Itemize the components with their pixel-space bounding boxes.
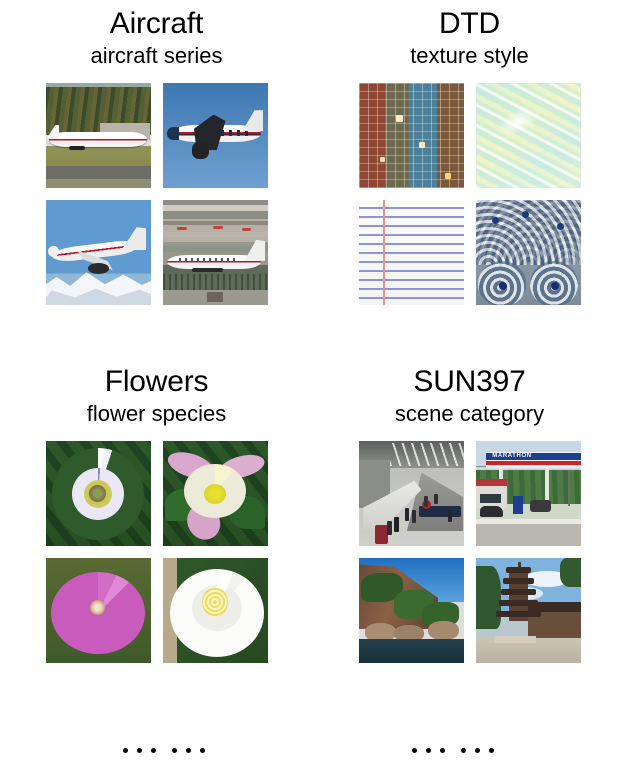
dataset-panel-flowers: Flowers flower species [0,358,313,713]
ellipsis-dot [186,748,191,753]
panel-title: SUN397 [413,364,525,400]
dataset-panel-aircraft: Aircraft aircraft series [0,0,313,355]
ellipsis-dot [412,748,417,753]
dataset-panel-dtd: DTD texture style [313,0,626,355]
sample-image-pastel-streak-texture [476,83,581,188]
continuation-row [0,728,626,778]
ellipsis-dot [200,748,205,753]
ellipsis-dot [172,748,177,753]
sample-image-coastal-cliff [359,558,464,663]
sample-image-columbine-flower [163,441,268,546]
ellipsis-dot [123,748,128,753]
sample-image-grid-woven-texture [359,83,464,188]
sample-image-grid [46,83,268,305]
sample-image-gas-station: MARATHON [476,441,581,546]
ellipsis-left-a [123,748,156,753]
ellipsis-dot [461,748,466,753]
sample-image-white-camellia-flower [163,558,268,663]
sample-image-regional-jet-over-mountains [46,200,151,305]
sample-image-lined-paper-texture [359,200,464,305]
ellipsis-left-b [172,748,205,753]
ellipsis-right-a [412,748,445,753]
panel-subtitle: scene category [395,401,544,427]
panel-subtitle: aircraft series [90,43,222,69]
panel-title: Aircraft [110,6,203,42]
sample-image-pagoda-temple [476,558,581,663]
ellipsis-dot [489,748,494,753]
ellipsis-dot [151,748,156,753]
ellipsis-right-b [461,748,494,753]
sample-image-grid [46,441,268,663]
sample-image-business-jet-in-flight [163,83,268,188]
gas-station-sign-text: MARATHON [492,453,531,459]
panel-subtitle: texture style [410,43,529,69]
sample-image-train-station-platform [359,441,464,546]
sample-image-jet-on-taxiway [163,200,268,305]
dataset-panel-sun397: SUN397 scene category MARATHON [313,358,626,713]
panel-title: DTD [439,6,500,42]
ellipsis-dot [475,748,480,753]
sample-image-passion-flower [46,441,151,546]
sample-image-grid [359,83,581,305]
dataset-overview-figure: Aircraft aircraft series [0,0,626,778]
sample-image-airliner-on-runway [46,83,151,188]
sample-image-grid: MARATHON [359,441,581,663]
ellipsis-dot [440,748,445,753]
panel-subtitle: flower species [87,401,226,427]
ellipsis-dot [137,748,142,753]
ellipsis-dot [426,748,431,753]
panel-title: Flowers [105,364,209,400]
sample-image-pink-mallow-flower [46,558,151,663]
sample-image-fractal-spiral-texture [476,200,581,305]
